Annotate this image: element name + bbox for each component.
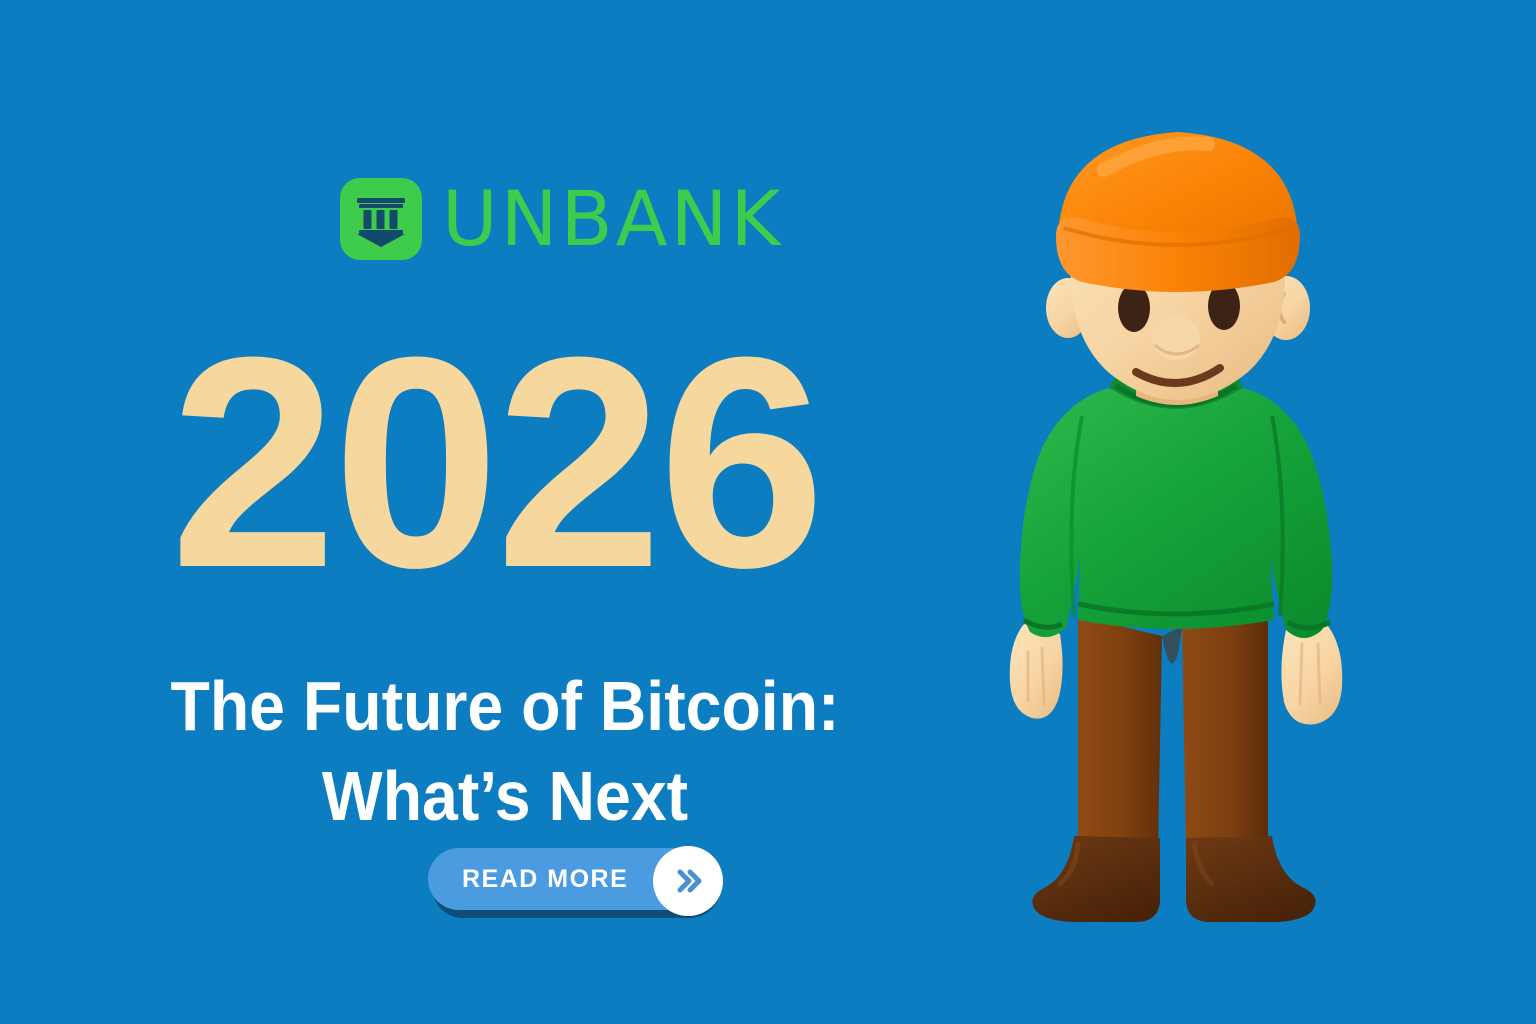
read-more-cta[interactable]: READ MORE bbox=[428, 848, 723, 916]
headline-line-1: The Future of Bitcoin: bbox=[40, 662, 969, 752]
standing-character-illustration bbox=[986, 96, 1406, 946]
brand-name: UNBANK bbox=[442, 181, 783, 257]
double-chevron-right-icon[interactable] bbox=[653, 846, 723, 916]
headline-line-2: What’s Next bbox=[40, 752, 969, 842]
year-headline: 2026 bbox=[170, 312, 821, 612]
bank-download-icon bbox=[340, 178, 422, 260]
read-more-label: READ MORE bbox=[462, 865, 628, 894]
page-title: The Future of Bitcoin: What’s Next bbox=[40, 662, 969, 841]
brand-logo[interactable]: UNBANK bbox=[340, 178, 783, 260]
promo-banner: UNBANK 2026 The Future of Bitcoin: What’… bbox=[0, 0, 1536, 1024]
